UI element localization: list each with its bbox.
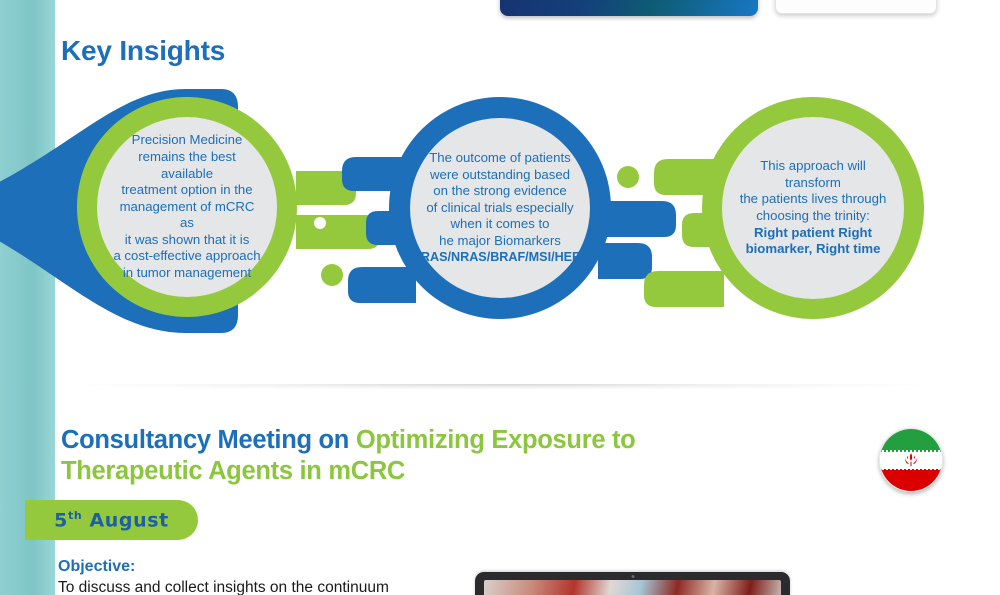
flag-kufic-band-bottom bbox=[880, 469, 942, 473]
meeting-title-blue: Consultancy Meeting on bbox=[61, 426, 356, 454]
insight-circle-1-text: Precision Medicine remains the best avai… bbox=[111, 132, 263, 281]
date-badge: 5th August bbox=[25, 500, 198, 540]
laptop-mockup bbox=[475, 572, 790, 595]
flag-green-band bbox=[880, 429, 942, 450]
flag-red-band bbox=[880, 470, 942, 491]
date-month: August bbox=[89, 509, 168, 531]
flag-emblem-icon bbox=[901, 451, 921, 469]
insight-circle-2-body: The outcome of patients were outstanding… bbox=[410, 118, 590, 298]
iran-flag-icon bbox=[879, 428, 943, 492]
top-cut-cards bbox=[0, 0, 1000, 22]
date-day: 5 bbox=[54, 509, 68, 531]
insight-circle-3-text: This approach will transform the patient… bbox=[734, 158, 892, 258]
insight-circle-2-text: The outcome of patients were outstanding… bbox=[408, 150, 593, 266]
page-title: Key Insights bbox=[61, 35, 225, 67]
insight-circle-1: Precision Medicine remains the best avai… bbox=[77, 97, 297, 317]
date-suffix: th bbox=[68, 509, 82, 522]
infographic-page: Key Insights bbox=[0, 0, 1000, 595]
objective-label: Objective: bbox=[58, 557, 458, 577]
objective-text: To discuss and collect insights on the c… bbox=[58, 577, 458, 595]
meeting-section: Consultancy Meeting on Optimizing Exposu… bbox=[0, 415, 1000, 595]
insight-circle-1-body: Precision Medicine remains the best avai… bbox=[97, 117, 277, 297]
insight-circle-3: This approach will transform the patient… bbox=[702, 97, 924, 319]
top-slide-card-light bbox=[775, 0, 937, 14]
section-divider bbox=[62, 384, 942, 394]
objective-block: Objective: To discuss and collect insigh… bbox=[58, 557, 458, 595]
insight-circle-3-body: This approach will transform the patient… bbox=[722, 117, 904, 299]
top-slide-card-dark bbox=[500, 0, 758, 16]
key-insights-group: Precision Medicine remains the best avai… bbox=[0, 75, 1000, 355]
insight-circle-2: The outcome of patients were outstanding… bbox=[389, 97, 611, 319]
laptop-screen-image bbox=[484, 580, 781, 595]
laptop-camera-icon bbox=[631, 575, 634, 578]
date-badge-label: 5th August bbox=[54, 509, 169, 531]
meeting-title: Consultancy Meeting on Optimizing Exposu… bbox=[61, 425, 711, 487]
